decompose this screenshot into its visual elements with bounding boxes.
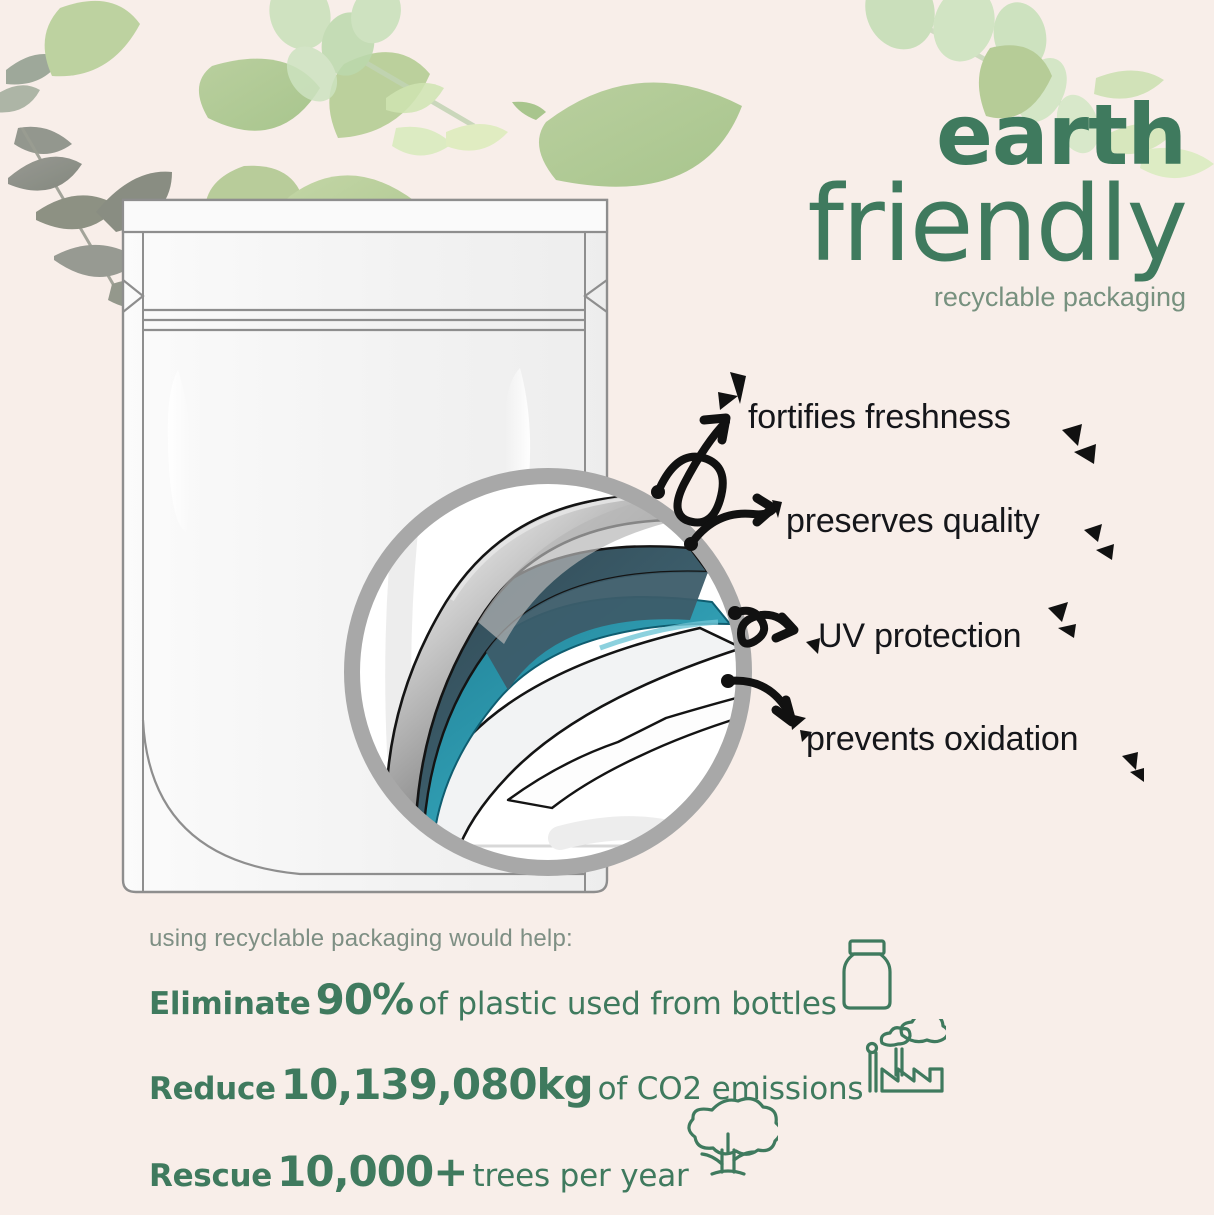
- page-title: earth friendly recyclable packaging: [706, 96, 1186, 313]
- curly-loop-arrow-icon: [651, 418, 726, 523]
- headline-line-2: friendly: [706, 172, 1186, 276]
- loop-arrow-icon: [728, 606, 794, 644]
- stat-verb: Eliminate: [149, 986, 311, 1022]
- feature-label-preserves-quality: preserves quality: [786, 502, 1040, 541]
- stats-intro: using recyclable packaging would help:: [149, 925, 1049, 953]
- stat-value: 10,139,080kg: [281, 1060, 593, 1109]
- stat-verb: Rescue: [149, 1158, 272, 1194]
- stat-value: 10,000+: [277, 1147, 467, 1196]
- stat-row-rescue: Rescue 10,000+ trees per year: [149, 1147, 1049, 1196]
- feature-label-prevents-oxidation: prevents oxidation: [806, 720, 1078, 759]
- tree-icon: [678, 1094, 778, 1184]
- stat-tail: of plastic used from bottles: [418, 986, 836, 1022]
- stat-row-eliminate: Eliminate 90% of plastic used from bottl…: [149, 975, 1049, 1024]
- bottle-icon: [836, 938, 898, 1012]
- feature-label-fortifies-freshness: fortifies freshness: [748, 398, 1011, 437]
- infographic-canvas: earth friendly recyclable packaging fort…: [0, 0, 1214, 1215]
- stat-tail: trees per year: [472, 1158, 688, 1194]
- feature-label-uv-protection: UV protection: [818, 617, 1021, 656]
- curved-arrow-icon-2: [721, 674, 792, 722]
- stat-value: 90%: [316, 975, 414, 1024]
- stat-verb: Reduce: [149, 1071, 276, 1107]
- headline-subtitle: recyclable packaging: [706, 282, 1186, 313]
- factory-icon: [858, 1019, 946, 1097]
